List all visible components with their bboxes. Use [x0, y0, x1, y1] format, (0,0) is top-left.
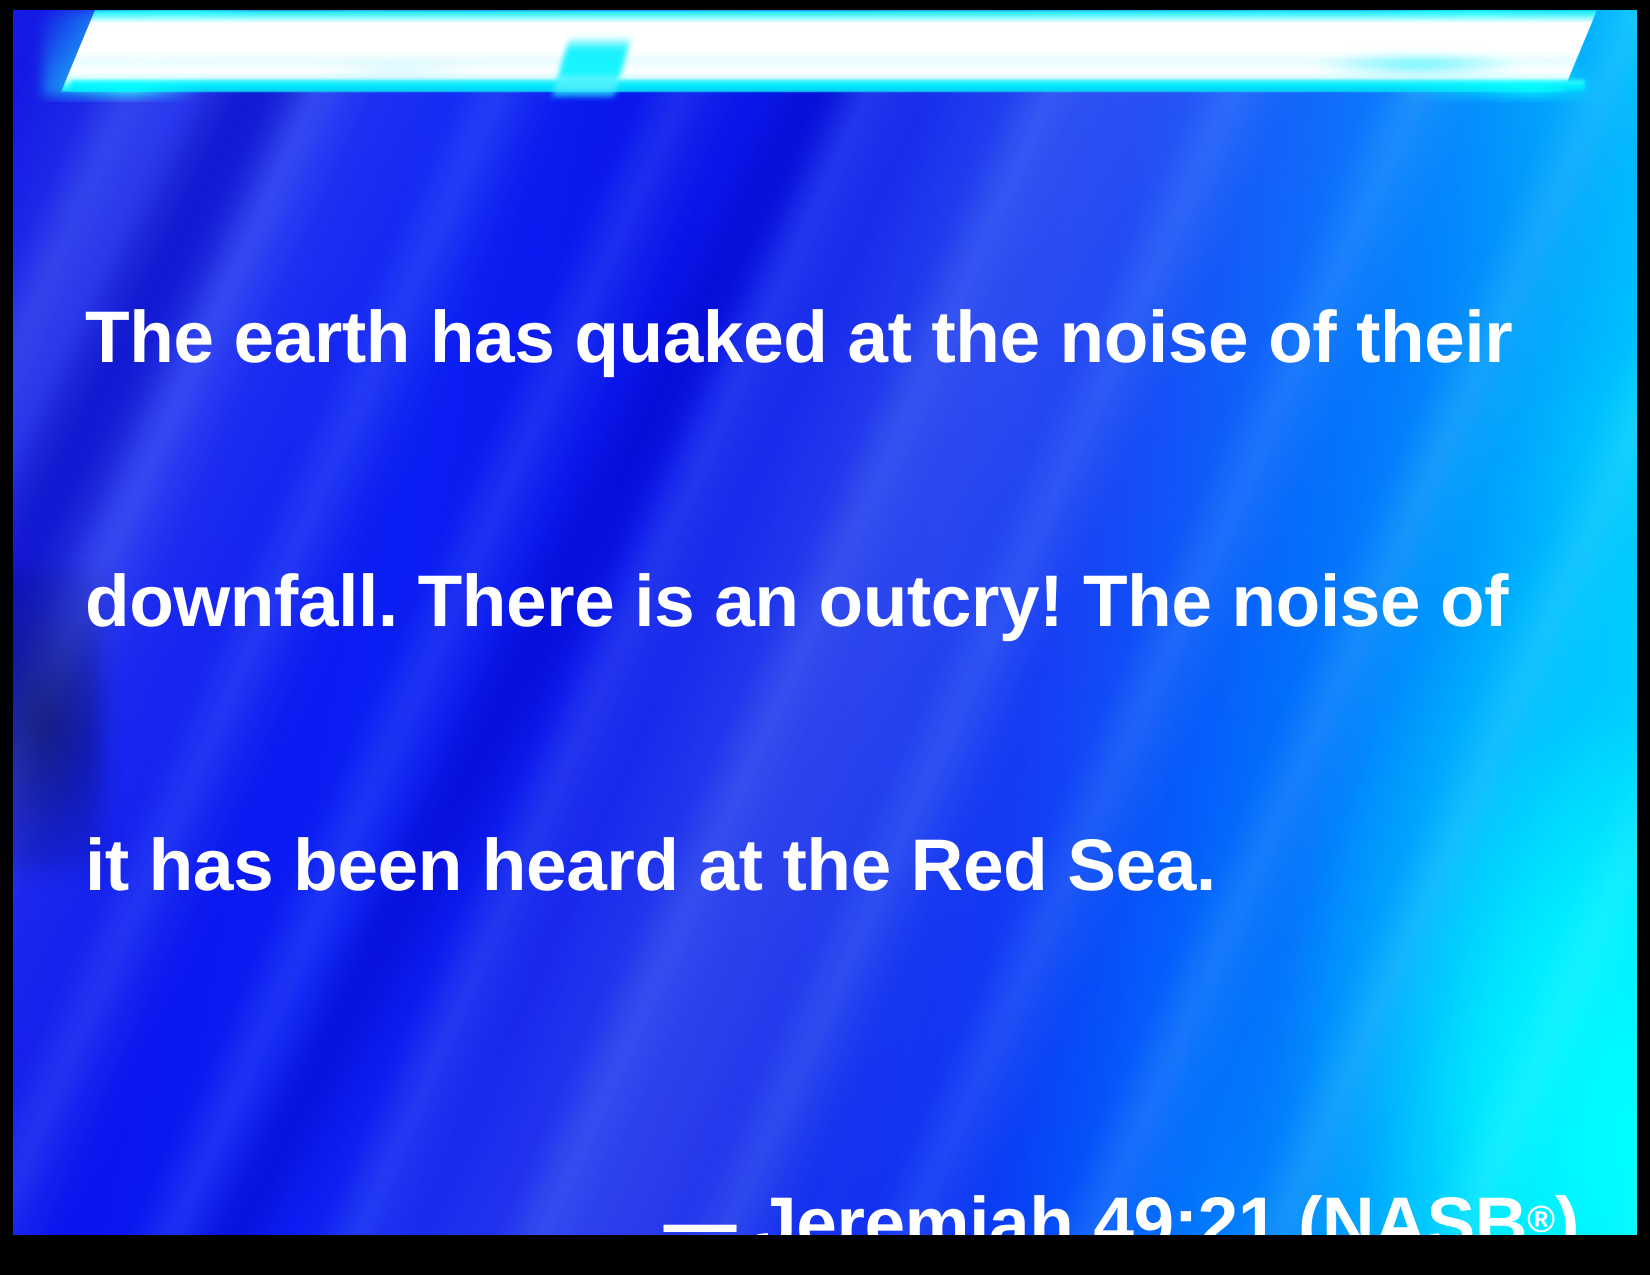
- banner-cyan-underline: [71, 80, 1585, 91]
- attribution-space-2: [1073, 1183, 1093, 1235]
- attribution-dash: —: [664, 1183, 737, 1235]
- attribution-space-3: [1278, 1183, 1298, 1235]
- attribution-translation: NASB: [1322, 1183, 1527, 1235]
- verse-line-2: downfall. There is an outcry! The noise …: [85, 558, 1585, 646]
- registered-trademark-icon: ®: [1527, 1199, 1555, 1235]
- verse-text-block: The earth has quaked at the noise of the…: [85, 118, 1585, 1235]
- top-highlight-banner: [13, 10, 1637, 102]
- attribution-paren-open: (: [1298, 1183, 1322, 1235]
- banner-cyan-smudge-right: [1313, 54, 1523, 76]
- attribution-reference: 49:21: [1093, 1183, 1278, 1235]
- banner-left-cyan-glow: [43, 10, 273, 96]
- attribution-paren-close: ): [1555, 1183, 1579, 1235]
- slide-canvas: The earth has quaked at the noise of the…: [13, 10, 1637, 1235]
- verse-line-3: it has been heard at the Red Sea.: [85, 822, 1585, 910]
- banner-cyan-smudge-left: [313, 62, 483, 78]
- verse-attribution: — Jeremiah 49:21 (NASB®): [85, 1176, 1585, 1235]
- verse-line-1: The earth has quaked at the noise of the…: [85, 294, 1585, 382]
- verse-slide: The earth has quaked at the noise of the…: [0, 0, 1650, 1275]
- attribution-book: Jeremiah: [756, 1183, 1073, 1235]
- attribution-space-1: [736, 1183, 756, 1235]
- banner-right-cyan-glow: [1393, 10, 1613, 96]
